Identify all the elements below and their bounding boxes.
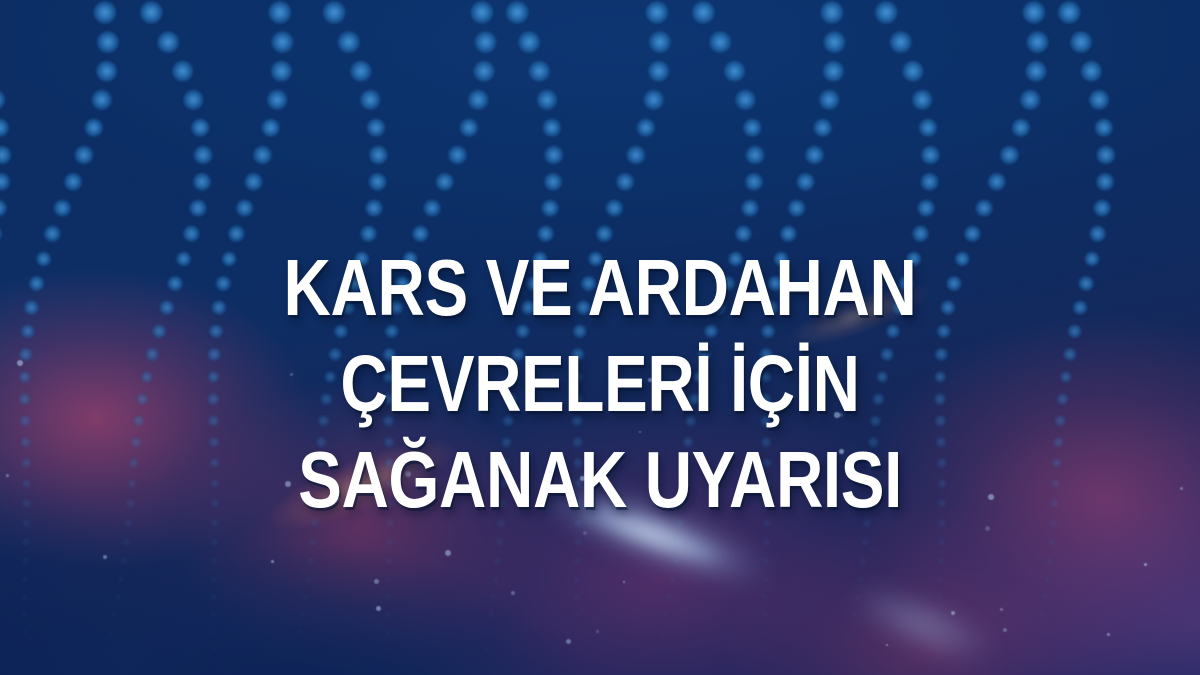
news-card-canvas: KARS VE ARDAHAN ÇEVRELERİ İÇİN SAĞANAK U…	[0, 0, 1200, 675]
star-dot	[271, 560, 274, 563]
star-dot	[511, 591, 515, 595]
star-dot	[103, 555, 107, 559]
star-dot	[1107, 633, 1110, 636]
star-dot	[6, 474, 9, 477]
star-dot	[17, 360, 23, 366]
star-dot	[376, 606, 381, 611]
star-dot	[583, 531, 587, 535]
headline-line-1: KARS VE ARDAHAN	[108, 240, 1092, 336]
star-dot	[623, 581, 625, 583]
star-dot	[1003, 628, 1007, 632]
lens-flare-secondary	[854, 584, 991, 664]
star-dot	[1144, 563, 1147, 566]
star-dot	[1180, 487, 1183, 490]
star-dot	[445, 550, 451, 556]
star-dot	[1000, 608, 1003, 611]
star-dot	[374, 579, 379, 584]
star-dot	[596, 630, 599, 633]
headline-line-3: SAĞANAK UYARISI	[108, 432, 1092, 528]
star-dot	[951, 611, 955, 615]
headline-line-2: ÇEVRELERİ İÇİN	[108, 336, 1092, 432]
headline-title: KARS VE ARDAHAN ÇEVRELERİ İÇİN SAĞANAK U…	[108, 240, 1092, 528]
star-dot	[566, 639, 571, 644]
star-dot	[886, 644, 888, 646]
